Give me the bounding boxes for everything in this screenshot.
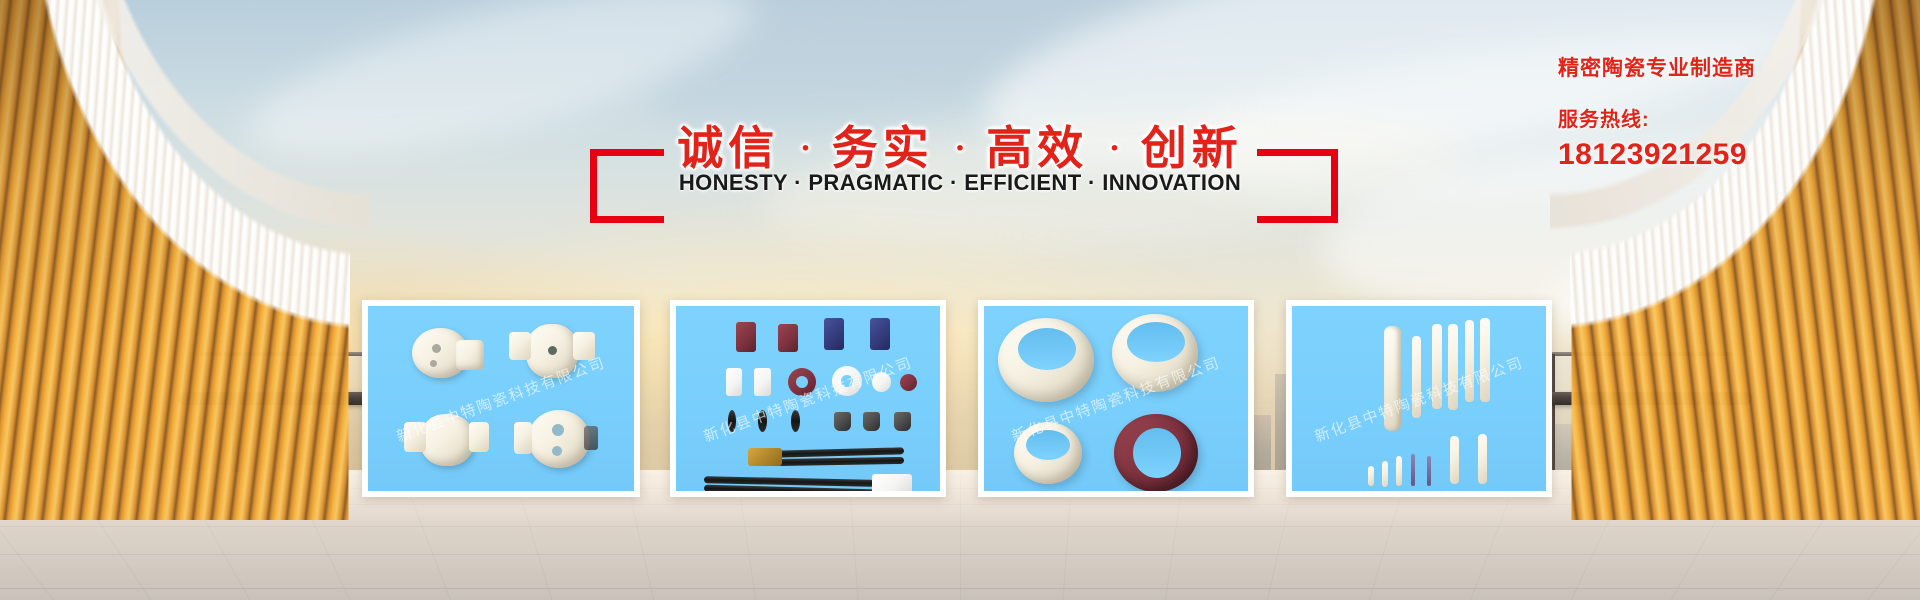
mount-tab bbox=[404, 422, 426, 452]
metal-clip bbox=[863, 412, 880, 431]
small-part bbox=[758, 410, 767, 432]
ceramic-sleeve-maroon bbox=[778, 324, 798, 352]
mount-tab bbox=[469, 422, 489, 452]
wire-lead bbox=[774, 447, 904, 457]
ceramic-sleeve-navy bbox=[870, 318, 890, 350]
product-panel-4[interactable]: 新化县中特陶瓷科技有限公司 bbox=[1286, 300, 1552, 497]
ceramic-pin bbox=[1396, 456, 1402, 486]
mount-tab bbox=[514, 422, 532, 454]
ceramic-sleeve-navy bbox=[824, 318, 844, 350]
terminal bbox=[584, 426, 598, 450]
ceramic-pin-grey bbox=[1411, 454, 1415, 486]
hole bbox=[430, 360, 437, 367]
ceramic-rod bbox=[1384, 326, 1401, 431]
metal-clip bbox=[834, 412, 851, 431]
product-panel-3[interactable]: 新化县中特陶瓷科技有限公司 bbox=[978, 300, 1254, 497]
ceramic-rod bbox=[1412, 336, 1421, 418]
product-panel-row: 新化县中特陶瓷科技有限公司 bbox=[0, 0, 1920, 600]
small-part bbox=[728, 410, 736, 432]
ceramic-tube bbox=[1450, 436, 1459, 484]
metal-clip bbox=[894, 412, 911, 431]
product-panel-4-image: 新化县中特陶瓷科技有限公司 bbox=[1292, 306, 1546, 491]
ring-hole bbox=[841, 375, 853, 387]
mount-tab bbox=[573, 332, 595, 360]
small-part bbox=[791, 410, 800, 432]
product-panel-2-image: 新化县中特陶瓷科技有限公司 bbox=[676, 306, 940, 491]
ring-bore bbox=[1018, 328, 1076, 370]
ceramic-pin bbox=[1368, 466, 1374, 486]
ceramic-rod bbox=[1480, 318, 1490, 402]
ceramic-tube bbox=[1478, 434, 1487, 484]
ceramic-pin bbox=[1382, 461, 1388, 487]
ceramic-connector-block bbox=[872, 474, 912, 491]
ring-bore bbox=[1133, 428, 1181, 478]
ceramic-lamp-holder bbox=[528, 410, 590, 468]
wire-lead bbox=[776, 457, 904, 466]
ceramic-cap bbox=[872, 372, 891, 392]
hole bbox=[432, 344, 441, 353]
watermark-text: 新化县中特陶瓷科技有限公司 bbox=[701, 351, 916, 446]
ring-bore bbox=[1026, 430, 1070, 460]
ceramic-sleeve-maroon bbox=[736, 322, 756, 352]
ceramic-pin-grey bbox=[1427, 456, 1431, 486]
ceramic-plate bbox=[726, 368, 742, 396]
ceramic-plate bbox=[754, 368, 771, 396]
ring-bore bbox=[1127, 322, 1185, 362]
hole bbox=[552, 446, 562, 456]
product-panel-1-image: 新化县中特陶瓷科技有限公司 bbox=[368, 306, 634, 491]
hero-banner: 诚信 · 务实 · 高效 · 创新 HONESTY · PRAGMATIC · … bbox=[0, 0, 1920, 600]
ceramic-lamp-holder-neck bbox=[456, 340, 484, 370]
ceramic-rod bbox=[1465, 320, 1474, 402]
hole bbox=[552, 424, 564, 436]
ceramic-cap-maroon bbox=[900, 374, 917, 391]
mount-tab bbox=[509, 332, 531, 360]
brass-terminal bbox=[748, 448, 782, 466]
product-panel-2[interactable]: 新化县中特陶瓷科技有限公司 bbox=[670, 300, 946, 497]
ceramic-rod bbox=[1448, 324, 1458, 410]
product-panel-3-image: 新化县中特陶瓷科技有限公司 bbox=[984, 306, 1248, 491]
ring-hole bbox=[796, 376, 808, 388]
hole bbox=[548, 346, 557, 355]
ceramic-rod bbox=[1432, 324, 1442, 409]
product-panel-1[interactable]: 新化县中特陶瓷科技有限公司 bbox=[362, 300, 640, 497]
ceramic-lamp-holder bbox=[420, 414, 474, 466]
